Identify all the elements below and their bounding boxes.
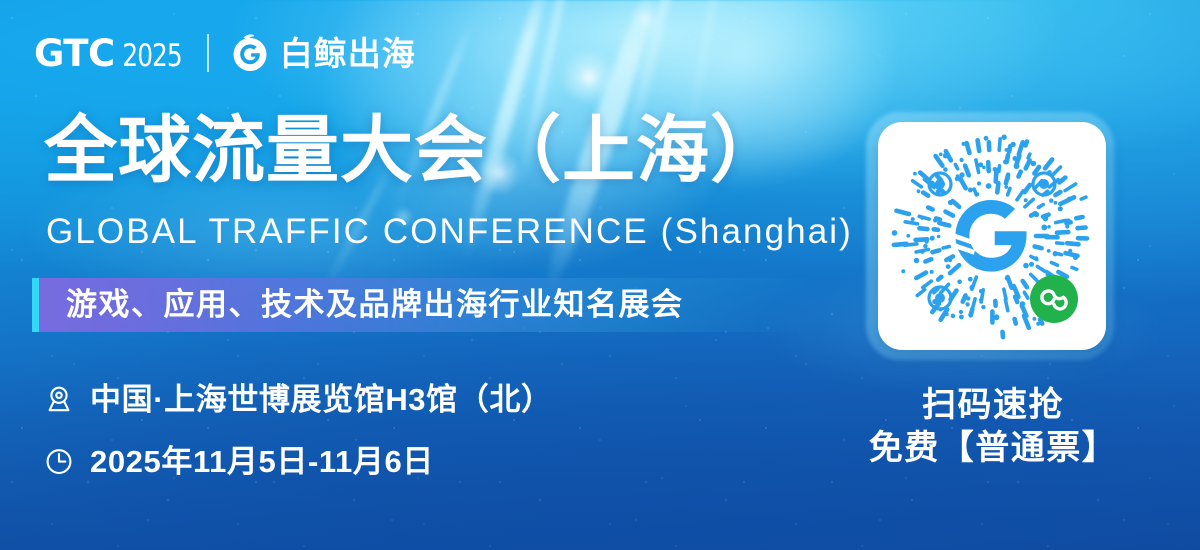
qr-caption: 扫码速抢 免费【普通票】 (862, 384, 1124, 470)
tagline-text: 游戏、应用、技术及品牌出海行业知名展会 (66, 286, 684, 324)
venue-line: 中国·上海世博展览馆H3馆（北） (42, 382, 553, 416)
tagline-accent-bar (32, 278, 39, 332)
location-pin-icon (42, 382, 76, 416)
header-logo-row: GTC 2025 白鲸出海 (34, 30, 416, 76)
gtc-logo: GTC 2025 (34, 35, 189, 72)
conference-banner: GTC 2025 白鲸出海 全球流量大会（上海） GLOBAL TRAFFIC … (0, 0, 1200, 550)
wechat-miniprogram-icon (1030, 275, 1078, 323)
qr-caption-line1: 扫码速抢 (862, 384, 1124, 427)
qr-caption-line2: 免费【普通票】 (862, 427, 1124, 470)
gtc-year-text: 2025 (122, 41, 181, 72)
logo-divider (207, 34, 209, 72)
gtc-mark-text: GTC (34, 35, 115, 72)
whale-g-logo-icon (229, 32, 271, 74)
date-text: 2025年11月5日-11月6日 (90, 446, 434, 477)
brand-name-text: 白鲸出海 (280, 37, 416, 70)
qr-code[interactable] (878, 122, 1106, 350)
date-line: 2025年11月5日-11月6日 (42, 444, 434, 478)
page-title: 全球流量大会（上海） (44, 112, 784, 189)
g-letter-logo-icon (952, 200, 1027, 272)
baijing-logo: 白鲸出海 (229, 32, 416, 74)
venue-text: 中国·上海世博展览馆H3馆（北） (90, 384, 553, 415)
page-subtitle-en: GLOBAL TRAFFIC CONFERENCE (Shanghai) (46, 214, 853, 249)
clock-icon (42, 444, 76, 478)
